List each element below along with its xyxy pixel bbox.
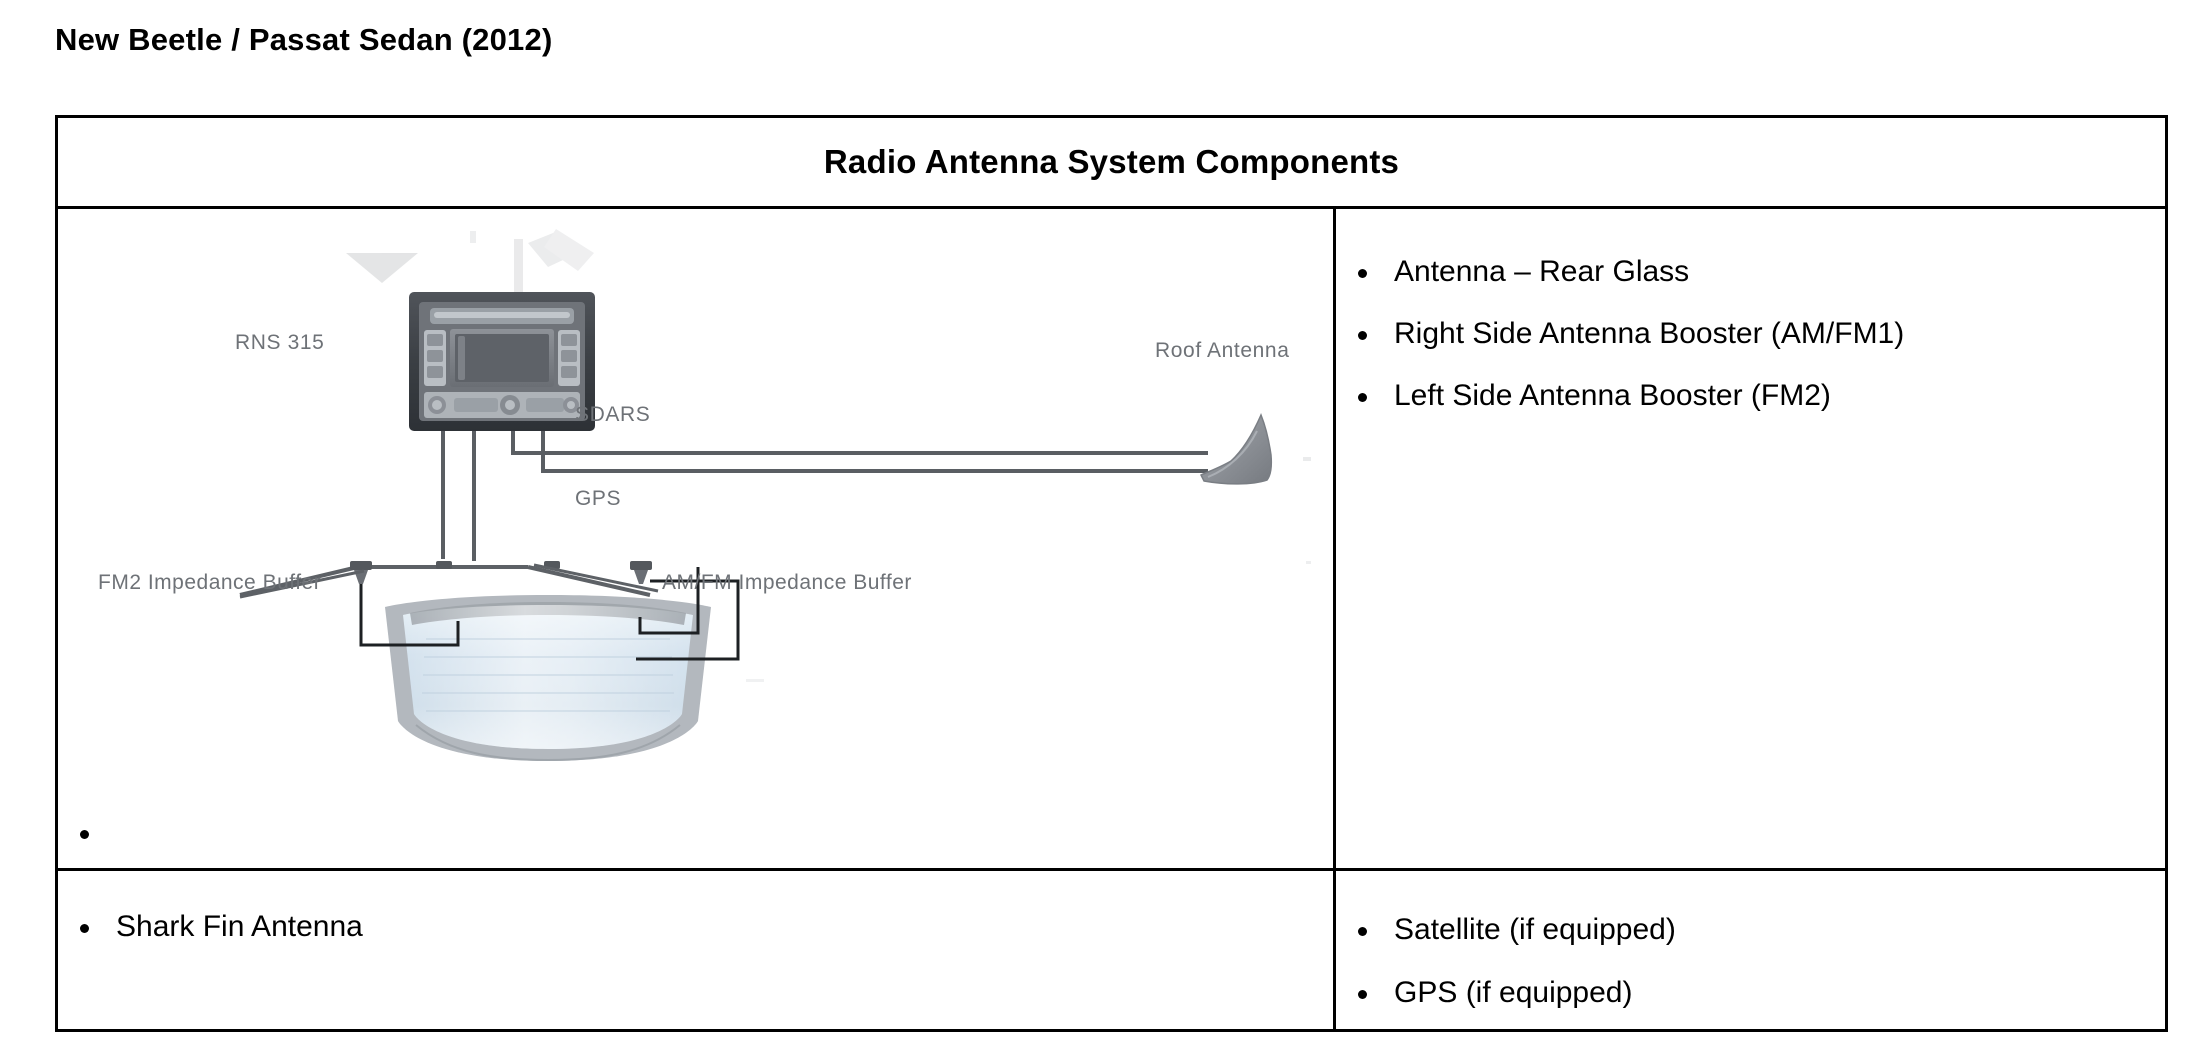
scan-artifact-specks <box>746 457 1311 682</box>
list-item <box>58 828 116 840</box>
list-item-antenna-rear-glass: Antenna – Rear Glass <box>1336 257 1904 287</box>
components-cell-bottom-right: Satellite (if equipped) GPS (if equipped… <box>1336 871 2165 1032</box>
cable-label-gps: GPS <box>575 487 621 510</box>
component-list-top-right: Antenna – Rear Glass Right Side Antenna … <box>1336 257 1904 443</box>
fm2-impedance-buffer-label: FM2 Impedance Buffer <box>98 571 321 594</box>
diagram-cell: RNS 315 SDARS GPS <box>58 209 1336 868</box>
diagram-cell-bullet-list <box>58 828 116 840</box>
amfm-impedance-buffer-label: AM/FM Impedance Buffer <box>662 571 912 594</box>
table-header-title: Radio Antenna System Components <box>824 143 1399 181</box>
table-row: RNS 315 SDARS GPS <box>58 209 2165 871</box>
scan-artifact-marks <box>346 229 594 295</box>
list-item-gps: GPS (if equipped) <box>1336 978 1676 1008</box>
amfm-impedance-buffer <box>630 561 652 584</box>
list-item-shark-fin-antenna: Shark Fin Antenna <box>58 912 363 942</box>
antenna-cable-routing <box>443 431 1208 561</box>
roof-shark-fin-antenna <box>1201 415 1271 484</box>
antenna-system-diagram-svg: RNS 315 SDARS GPS <box>58 209 1336 868</box>
cable-label-sdars: SDARS <box>575 403 650 426</box>
component-list-bottom-left: Shark Fin Antenna <box>58 912 363 942</box>
roof-antenna-label: Roof Antenna <box>1155 339 1289 362</box>
antenna-system-diagram: RNS 315 SDARS GPS <box>58 209 1336 868</box>
components-table: Radio Antenna System Components <box>55 115 2168 1032</box>
table-header-row: Radio Antenna System Components <box>58 118 2165 209</box>
table-row: Shark Fin Antenna Satellite (if equipped… <box>58 871 2165 1032</box>
list-item-right-side-antenna-booster: Right Side Antenna Booster (AM/FM1) <box>1336 319 1904 349</box>
list-item-left-side-antenna-booster: Left Side Antenna Booster (FM2) <box>1336 381 1904 411</box>
components-cell-bottom-left: Shark Fin Antenna <box>58 871 1336 1032</box>
rear-glass-antenna <box>385 595 711 761</box>
list-item-satellite: Satellite (if equipped) <box>1336 915 1676 945</box>
component-list-bottom-right: Satellite (if equipped) GPS (if equipped… <box>1336 915 1676 1041</box>
page-title: New Beetle / Passat Sedan (2012) <box>55 22 552 58</box>
head-unit-label: RNS 315 <box>235 331 324 354</box>
radio-head-unit <box>409 292 595 431</box>
components-cell-top-right: Antenna – Rear Glass Right Side Antenna … <box>1336 209 2165 868</box>
